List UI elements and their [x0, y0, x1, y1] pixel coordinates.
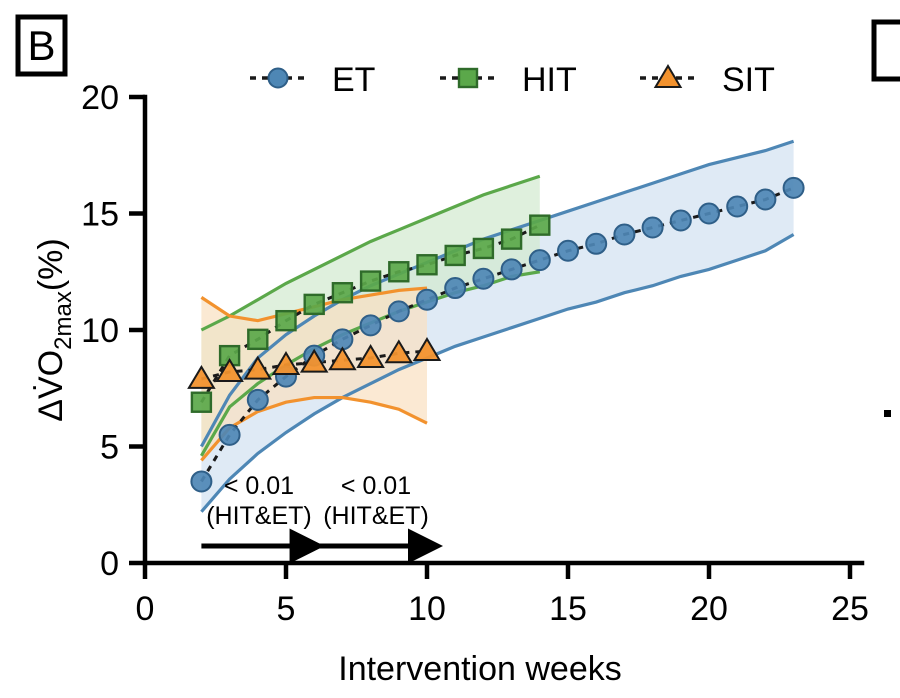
sig-p-value-0: < 0.01	[224, 472, 294, 500]
data-point-et-19	[727, 197, 747, 217]
legend-item-hit[interactable]: HIT	[440, 61, 577, 99]
vo2max-line-chart: 051015200510152025 Intervention weeks ΔV…	[0, 0, 900, 698]
data-point-et-15	[614, 224, 634, 244]
data-point-hit-12	[530, 216, 549, 235]
data-point-et-12	[530, 250, 550, 270]
y-title-unit: (%)	[32, 238, 70, 291]
y-title-o: O	[32, 350, 70, 376]
legend-label-hit: HIT	[522, 61, 577, 99]
data-point-et-13	[558, 241, 578, 261]
legend-item-sit[interactable]: SIT	[640, 61, 775, 99]
data-point-hit-8	[418, 255, 437, 274]
data-point-et-7	[389, 301, 409, 321]
data-point-et-5	[332, 329, 352, 349]
data-point-et-2	[248, 390, 268, 410]
data-point-et-16	[643, 217, 663, 237]
data-point-et-10	[473, 269, 493, 289]
data-point-hit-2	[248, 330, 267, 349]
x-tick-label-0: 0	[136, 590, 155, 628]
data-point-et-17	[671, 210, 691, 230]
y-tick-label-0: 0	[100, 545, 119, 583]
data-point-et-11	[502, 259, 522, 279]
sig-groups-0: (HIT&ET)	[206, 502, 312, 530]
data-point-et-8	[417, 290, 437, 310]
x-tick-label-25: 25	[831, 590, 869, 628]
y-tick-label-10: 10	[81, 312, 119, 350]
y-title-vdot: V̇	[32, 376, 70, 399]
data-point-hit-6	[361, 272, 380, 291]
significance-annotations: < 0.01(HIT&ET)< 0.01(HIT&ET)	[206, 472, 429, 530]
data-point-et-18	[699, 204, 719, 224]
data-point-et-9	[445, 278, 465, 298]
data-point-hit-4	[305, 295, 324, 314]
data-point-hit-0	[192, 393, 211, 412]
data-point-et-14	[586, 234, 606, 254]
data-point-hit-7	[389, 262, 408, 281]
data-point-hit-5	[333, 283, 352, 302]
legend-item-et[interactable]: ET	[250, 61, 375, 99]
y-tick-label-20: 20	[81, 79, 119, 117]
y-tick-label-5: 5	[100, 429, 119, 467]
y-title-delta: Δ	[32, 399, 70, 422]
svg-text:ΔV̇O2max(%): ΔV̇O2max(%)	[32, 238, 77, 421]
x-tick-label-10: 10	[408, 590, 446, 628]
panel-label-text: B	[27, 22, 55, 69]
data-point-hit-11	[502, 230, 521, 249]
legend-square-icon	[459, 69, 477, 87]
y-title-sub: 2max	[50, 291, 77, 350]
legend-label-et: ET	[332, 61, 375, 99]
figure-panel-b: 051015200510152025 Intervention weeks ΔV…	[0, 0, 900, 698]
data-point-et-1	[220, 425, 240, 445]
chart-legend: ETHITSIT	[250, 61, 775, 99]
sig-groups-1: (HIT&ET)	[323, 502, 429, 530]
data-point-hit-10	[474, 239, 493, 258]
legend-circle-icon	[269, 69, 288, 88]
y-tick-label-15: 15	[81, 196, 119, 234]
data-point-et-20	[755, 190, 775, 210]
y-axis-title: ΔV̇O2max(%)	[32, 238, 77, 421]
data-point-et-0	[191, 471, 211, 491]
x-tick-label-5: 5	[277, 590, 296, 628]
data-point-et-21	[784, 178, 804, 198]
sig-p-value-1: < 0.01	[341, 472, 411, 500]
data-point-et-6	[361, 315, 381, 335]
x-axis-title: Intervention weeks	[338, 650, 622, 688]
data-point-hit-3	[277, 311, 296, 330]
x-tick-label-20: 20	[690, 590, 728, 628]
x-tick-label-15: 15	[549, 590, 587, 628]
data-point-hit-9	[446, 246, 465, 265]
panel-label-b: B	[18, 17, 65, 74]
neighbor-panel-label-box	[874, 22, 900, 417]
legend-label-sit: SIT	[722, 61, 775, 99]
